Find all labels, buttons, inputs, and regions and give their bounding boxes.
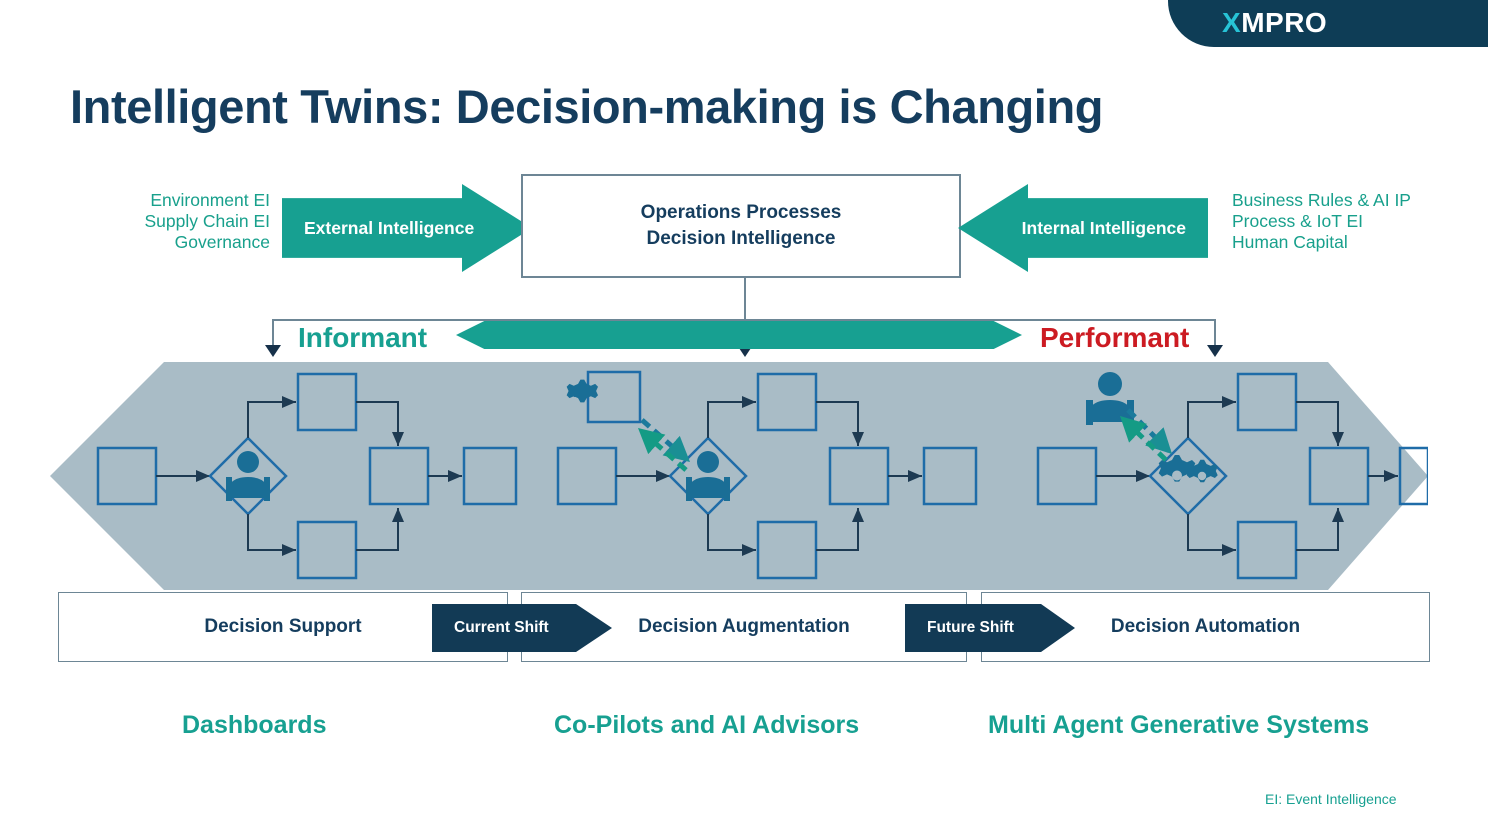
flow-connector	[248, 514, 296, 550]
task-box-merge	[830, 448, 888, 504]
logo-x-letter: X	[1222, 7, 1241, 38]
caption-copilots: Co-Pilots and AI Advisors	[554, 711, 859, 740]
task-box-merge	[1310, 448, 1368, 504]
person-icon	[686, 451, 730, 501]
internal-source-1: Business Rules & AI IP	[1232, 190, 1462, 211]
brand-logo-text: XMPRO	[1222, 8, 1327, 38]
task-box-end	[464, 448, 516, 504]
gears-icon	[567, 380, 629, 403]
flow-connector	[816, 402, 858, 446]
footnote-legend: EI: Event Intelligence	[1265, 791, 1397, 807]
task-box-start	[98, 448, 156, 504]
operations-processes-line: Operations Processes	[641, 200, 842, 226]
future-shift-label: Future Shift	[927, 619, 1014, 637]
task-box-start	[558, 448, 616, 504]
person-icon	[226, 451, 270, 501]
decision-gateway-human	[670, 438, 746, 514]
flow-connector	[248, 402, 296, 438]
stage-label: Decision Automation	[1111, 616, 1300, 638]
page-title: Intelligent Twins: Decision-making is Ch…	[70, 79, 1103, 134]
internal-source-2: Process & IoT EI	[1232, 211, 1462, 232]
external-intelligence-arrow-label: External Intelligence	[304, 218, 474, 239]
caption-dashboards: Dashboards	[182, 711, 326, 740]
task-box-top	[758, 374, 816, 430]
process-flow-decision-augmentation	[558, 372, 976, 578]
task-box-bottom	[758, 522, 816, 578]
internal-intelligence-arrow-label: Internal Intelligence	[1022, 218, 1186, 239]
task-box-top	[298, 374, 356, 430]
rail-drop-3	[1214, 319, 1216, 346]
stage-label: Decision Support	[204, 616, 361, 638]
flow-connector	[708, 402, 756, 438]
process-diagrams	[50, 362, 1428, 590]
center-box-stem	[744, 278, 746, 320]
current-shift-label: Current Shift	[454, 619, 549, 637]
informant-performant-spectrum-arrow	[456, 321, 1022, 349]
external-source-2: Supply Chain EI	[100, 211, 270, 232]
flow-connector	[816, 508, 858, 550]
task-box-top	[1238, 374, 1296, 430]
process-flow-decision-support	[98, 374, 516, 578]
flow-connector	[1188, 514, 1236, 550]
informant-label: Informant	[298, 322, 427, 354]
task-box-bottom	[1238, 522, 1296, 578]
external-source-3: Governance	[100, 232, 270, 253]
external-intelligence-sources: Environment EI Supply Chain EI Governanc…	[100, 190, 270, 253]
process-flow-decision-automation	[1038, 372, 1428, 578]
decision-gateway-human	[210, 438, 286, 514]
flow-connector	[1188, 402, 1236, 438]
flow-connector	[708, 514, 756, 550]
performant-label: Performant	[1040, 322, 1189, 354]
internal-source-3: Human Capital	[1232, 232, 1462, 253]
future-shift-arrow: Future Shift	[905, 604, 1075, 652]
internal-intelligence-arrow: Internal Intelligence	[958, 184, 1208, 272]
task-box-merge	[370, 448, 428, 504]
rail-arrowhead-3	[1207, 345, 1223, 357]
internal-intelligence-sources: Business Rules & AI IP Process & IoT EI …	[1232, 190, 1462, 253]
person-icon	[1086, 372, 1134, 425]
brand-logo-plate	[1168, 0, 1488, 47]
slide-canvas: XMPRO Intelligent Twins: Decision-making…	[0, 0, 1488, 836]
task-box-start	[1038, 448, 1096, 504]
external-intelligence-arrow: External Intelligence	[282, 184, 532, 272]
stage-row: Decision Support Decision Augmentation D…	[0, 592, 1488, 664]
logo-wordmark: MPRO	[1241, 7, 1327, 38]
flow-connector	[356, 508, 398, 550]
caption-multi-agent: Multi Agent Generative Systems	[988, 711, 1369, 740]
flow-connector	[1296, 402, 1338, 446]
flow-connector	[356, 402, 398, 446]
task-box-end	[1400, 448, 1428, 504]
external-source-1: Environment EI	[100, 190, 270, 211]
decision-intelligence-line: Decision Intelligence	[647, 226, 836, 252]
task-box-end	[924, 448, 976, 504]
flow-connector	[1296, 508, 1338, 550]
current-shift-arrow: Current Shift	[432, 604, 612, 652]
operations-decision-box: Operations Processes Decision Intelligen…	[521, 174, 961, 278]
rail-drop-1	[272, 319, 274, 346]
rail-arrowhead-1	[265, 345, 281, 357]
stage-label: Decision Augmentation	[638, 616, 849, 638]
task-box-bottom	[298, 522, 356, 578]
